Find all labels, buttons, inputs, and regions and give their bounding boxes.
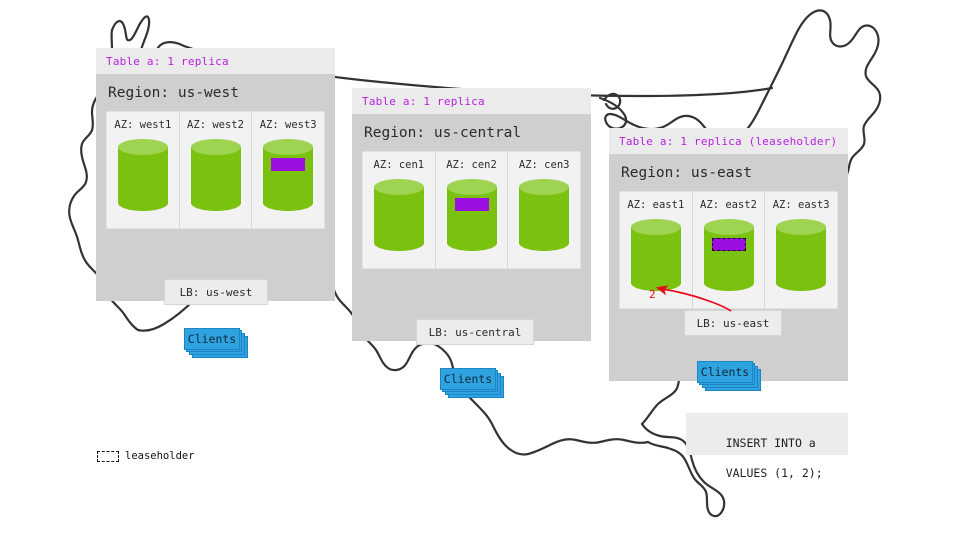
annotation-step-number: 2 — [649, 288, 656, 301]
diagram-canvas: Table a: 1 replica Region: us-west AZ: w… — [0, 0, 960, 540]
sql-statement-box: INSERT INTO a VALUES (1, 2); — [686, 413, 848, 455]
legend-label: leaseholder — [125, 450, 195, 462]
sql-line-1: INSERT INTO a — [726, 436, 816, 450]
sql-line-2: VALUES (1, 2); — [726, 466, 823, 480]
leaseholder-swatch-icon — [97, 451, 119, 462]
legend-leaseholder: leaseholder — [97, 450, 195, 462]
arrow-lb-to-east1 — [658, 288, 731, 311]
